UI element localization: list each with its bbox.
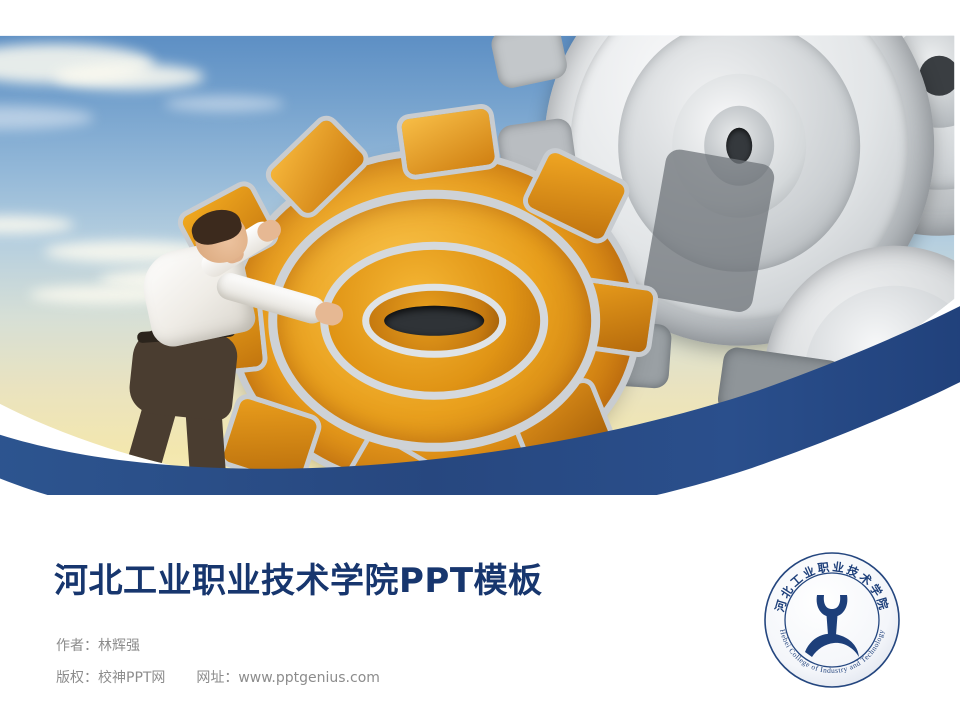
copyright-line: 版权：校神PPT网 网址：www.pptgenius.com	[56, 667, 380, 687]
hero-photo-inner	[0, 36, 954, 500]
hero-photo	[0, 36, 954, 500]
figure-man-pushing	[119, 211, 349, 500]
hero-image-region	[0, 0, 960, 500]
figure-hand	[313, 300, 345, 328]
page-title: 河北工业职业技术学院PPT模板	[54, 553, 543, 602]
author-line: 作者：林辉强	[56, 635, 140, 655]
copyright-label: 版权：校神PPT网	[56, 670, 165, 686]
cloud	[164, 96, 284, 112]
seal-svg: 河北工业职业技术学院 Hebei College of Industry and…	[763, 551, 901, 689]
presentation-title-slide: 河北工业职业技术学院PPT模板 作者：林辉强 版权：校神PPT网 网址：www.…	[0, 0, 960, 720]
hero-ellipse-clip	[0, 0, 960, 500]
cloud	[54, 64, 204, 90]
university-logo: 河北工业职业技术学院 Hebei College of Industry and…	[763, 551, 901, 689]
website-label[interactable]: 网址：www.pptgenius.com	[196, 670, 380, 686]
